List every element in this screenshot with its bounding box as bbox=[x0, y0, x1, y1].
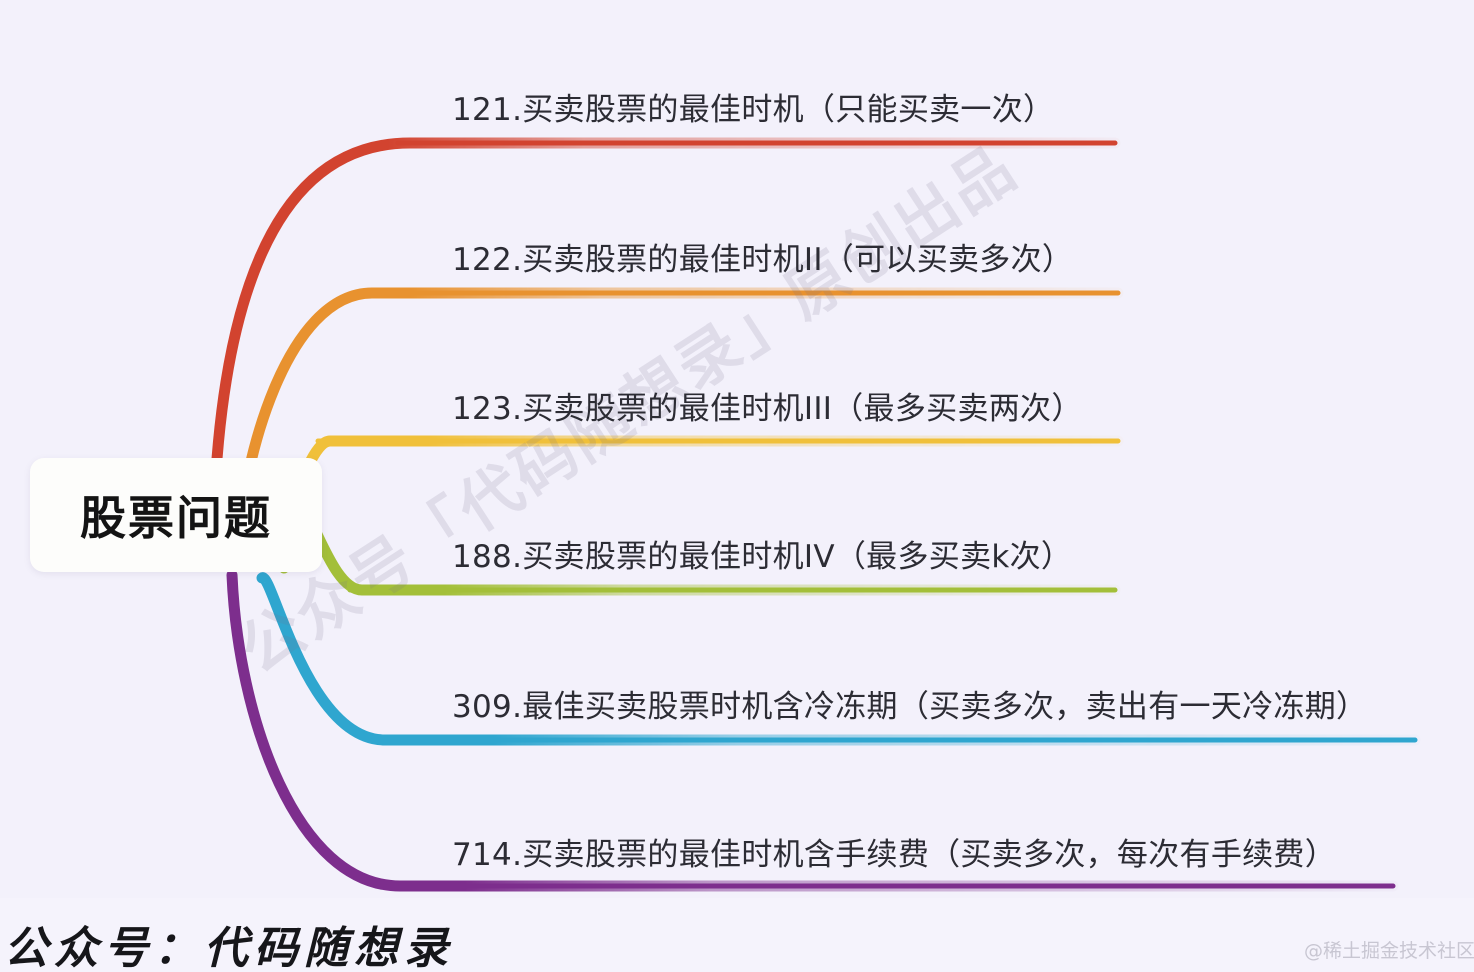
branch-label-121[interactable]: 121.买卖股票的最佳时机（只能买卖一次） bbox=[452, 84, 1054, 129]
mindmap-canvas: 公众号「代码随想录」原创出品 股票问题 121.买卖股票的最佳时机（只能买卖一次… bbox=[0, 0, 1474, 972]
bottom-right-watermark: @稀土掘金技术社区 bbox=[1304, 936, 1474, 963]
branch-label-309[interactable]: 309.最佳买卖股票时机含冷冻期（买卖多次，卖出有一天冷冻期） bbox=[452, 681, 1367, 726]
root-node-label: 股票问题 bbox=[80, 482, 272, 548]
mindmap-root-node[interactable]: 股票问题 bbox=[30, 458, 322, 572]
branch-curve-121 bbox=[213, 143, 1115, 545]
branch-label-123[interactable]: 123.买卖股票的最佳时机III（最多买卖两次） bbox=[452, 383, 1083, 428]
branch-label-714[interactable]: 714.买卖股票的最佳时机含手续费（买卖多次，每次有手续费） bbox=[452, 829, 1336, 874]
branch-label-122[interactable]: 122.买卖股票的最佳时机II（可以买卖多次） bbox=[452, 234, 1073, 279]
bottom-left-watermark: 公众号：代码随想录 bbox=[4, 912, 454, 972]
branch-label-188[interactable]: 188.买卖股票的最佳时机IV（最多买卖k次） bbox=[452, 531, 1072, 576]
